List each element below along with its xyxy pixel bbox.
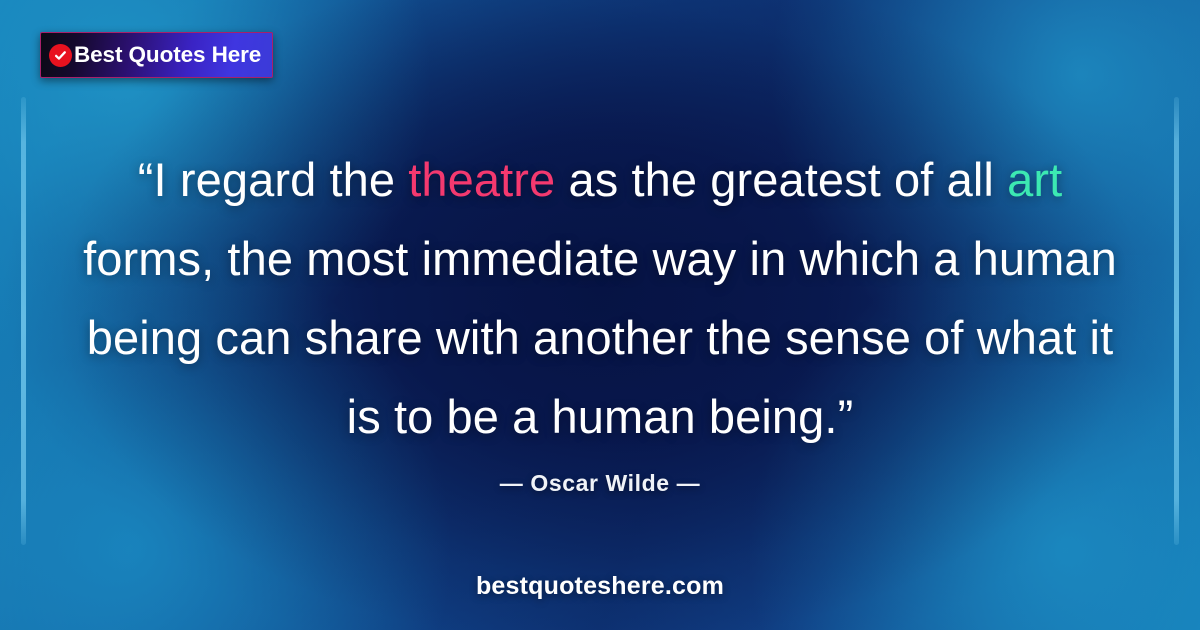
- quote-part-2: as the greatest of all: [555, 153, 1007, 206]
- quote-close-mark: ”: [838, 390, 854, 443]
- brand-badge[interactable]: Best Quotes Here: [40, 32, 273, 78]
- quote-highlight-art: art: [1007, 153, 1062, 206]
- quote-part-1: I regard the: [154, 153, 409, 206]
- quote-card: Best Quotes Here “I regard the theatre a…: [0, 0, 1200, 630]
- quote-attribution: — Oscar Wilde —: [0, 470, 1200, 497]
- quote-highlight-theatre: theatre: [408, 153, 555, 206]
- quote-open-mark: “: [138, 153, 154, 206]
- quote-part-3: forms, the most immediate way in which a…: [83, 232, 1117, 443]
- footer-site-url: bestquoteshere.com: [0, 572, 1200, 601]
- brand-label: Best Quotes Here: [74, 44, 261, 67]
- quote-text: “I regard the theatre as the greatest of…: [70, 140, 1130, 456]
- check-circle-icon: [49, 44, 72, 67]
